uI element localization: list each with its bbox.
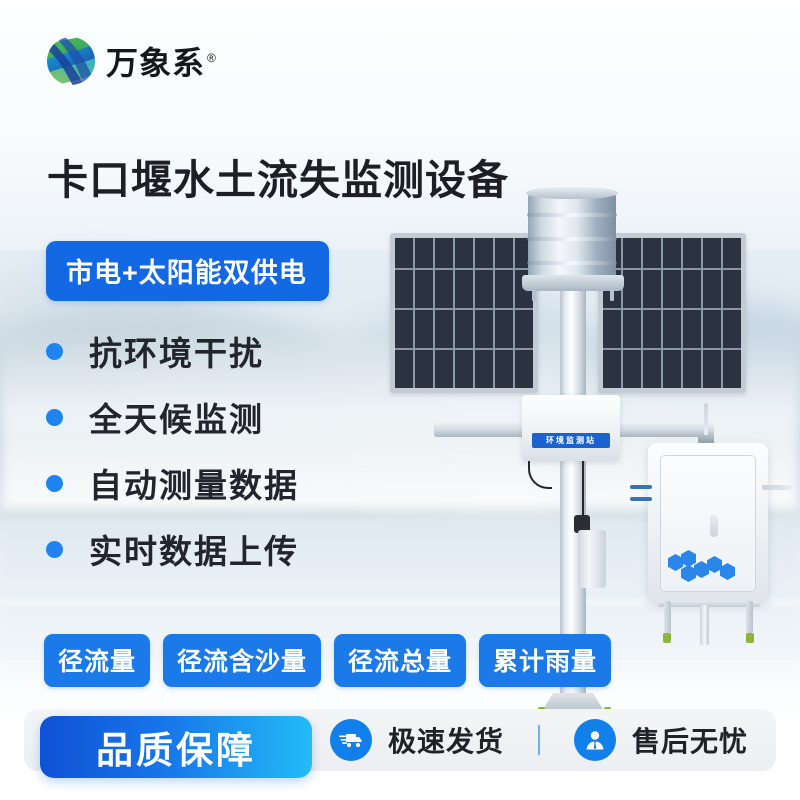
cabinet-fitting <box>663 633 671 643</box>
power-badge: 市电+太阳能双供电 <box>46 241 329 301</box>
quality-assurance-button[interactable]: 品质保障 <box>40 716 312 778</box>
rain-gauge-base <box>522 275 624 291</box>
service-label: 极速发货 <box>388 720 504 760</box>
feature-item: 抗环境干扰 <box>46 318 299 384</box>
cabinet-pipe <box>700 605 709 645</box>
rain-gauge-top <box>526 187 618 199</box>
registered-mark: ® <box>207 51 217 65</box>
feature-item: 全天候监测 <box>46 384 299 450</box>
tag-runoff-volume: 径流量 <box>44 634 150 687</box>
service-label: 售后无忧 <box>632 720 748 760</box>
product-illustration: 环境监测站 <box>380 185 800 645</box>
cabinet-leg <box>664 601 671 633</box>
cabinet-side-arm <box>762 485 792 490</box>
solar-panel-left <box>390 233 538 393</box>
feature-label: 实时数据上传 <box>89 525 299 573</box>
customer-service-person-icon <box>574 719 616 761</box>
feature-label: 抗环境干扰 <box>89 327 264 375</box>
tag-total-runoff: 径流总量 <box>334 634 466 687</box>
solar-panel-right <box>598 233 746 393</box>
tag-sediment-content: 径流含沙量 <box>163 634 321 687</box>
service-item-after-sales: 售后无忧 <box>574 719 748 761</box>
rain-gauge-ring <box>527 213 617 217</box>
service-items: 极速发货 售后无忧 <box>330 709 782 771</box>
brand-name: 万象系® <box>106 38 217 84</box>
feature-item: 实时数据上传 <box>46 516 299 582</box>
tag-cumulative-rainfall: 累计雨量 <box>479 634 611 687</box>
product-poster: 环境监测站 <box>0 0 800 800</box>
cable <box>528 461 552 489</box>
cabinet-fitting <box>746 633 754 643</box>
rain-gauge-leg <box>610 289 614 301</box>
feature-item: 自动测量数据 <box>46 450 299 516</box>
hexagon-pattern-icon <box>668 550 738 582</box>
cabinet-connector <box>630 485 652 489</box>
cabinet-connector <box>630 497 652 501</box>
page-title: 卡口堰水土流失监测设备 <box>47 146 509 206</box>
feature-label: 全天候监测 <box>89 393 264 441</box>
service-divider <box>538 725 540 755</box>
rain-gauge-ring <box>527 261 617 265</box>
blue-dot-icon <box>46 475 63 492</box>
cabinet-rail <box>658 601 760 607</box>
blue-dot-icon <box>46 343 63 360</box>
blue-dot-icon <box>46 409 63 426</box>
control-box <box>522 395 620 461</box>
delivery-truck-icon <box>330 719 372 761</box>
cabinet-handle <box>710 515 718 537</box>
rain-gauge-ring <box>527 237 617 241</box>
blue-dot-icon <box>46 541 63 558</box>
quality-assurance-label: 品质保障 <box>96 720 256 774</box>
antenna-icon <box>704 403 708 437</box>
solar-cells <box>395 238 533 388</box>
sensor-body <box>578 530 606 588</box>
cabinet-leg <box>746 601 753 633</box>
cable <box>582 461 584 519</box>
station-label: 环境监测站 <box>532 433 610 448</box>
service-item-fast-delivery: 极速发货 <box>330 719 504 761</box>
measurement-tag-list: 径流量 径流含沙量 径流总量 累计雨量 <box>44 634 624 687</box>
rain-gauge-leg <box>532 289 536 301</box>
brand-logo: 万象系® <box>44 34 217 88</box>
solar-cells <box>603 238 741 388</box>
feature-list: 抗环境干扰 全天候监测 自动测量数据 实时数据上传 <box>46 318 299 582</box>
globe-swirl-logo-icon <box>44 34 98 88</box>
brand-name-text: 万象系 <box>106 45 205 81</box>
feature-label: 自动测量数据 <box>89 459 299 507</box>
